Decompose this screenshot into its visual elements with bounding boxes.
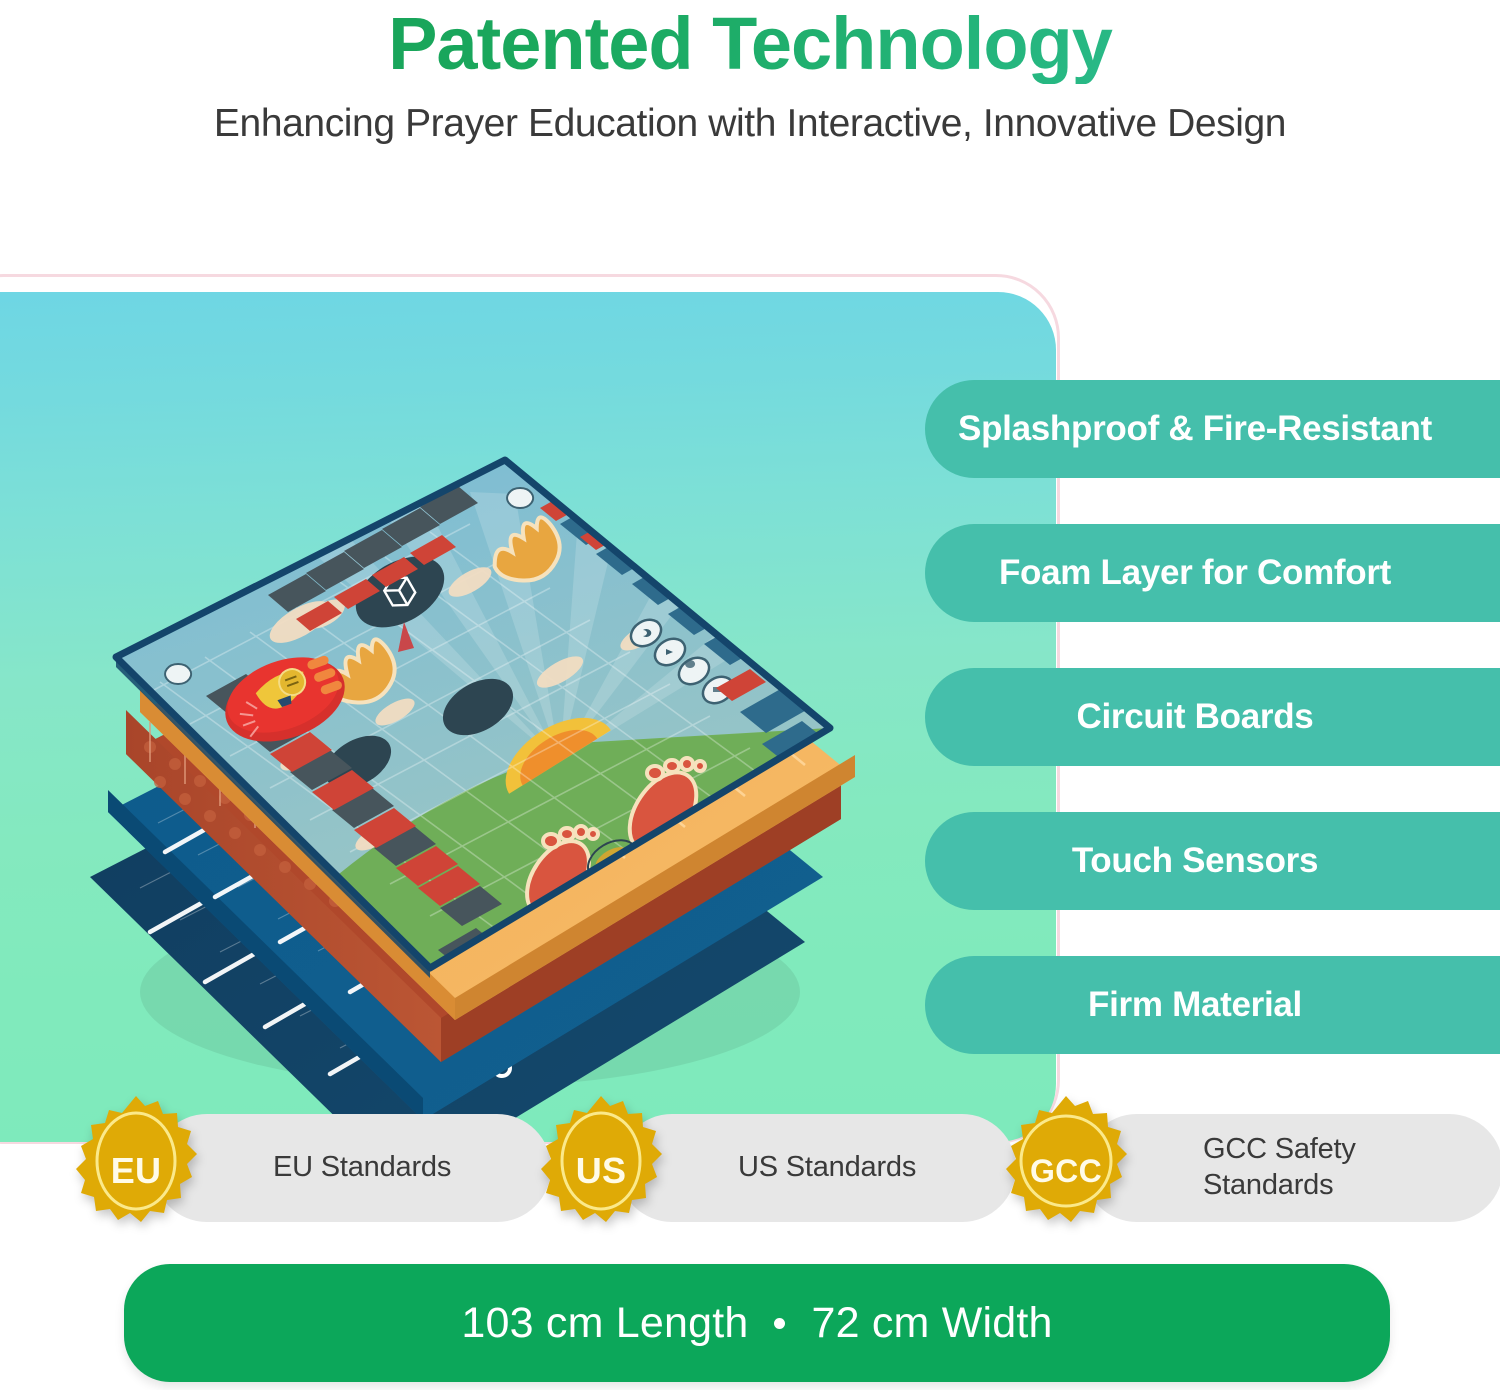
certification-badges: EU Standards EU US Standards US GCC Safe… (0, 1092, 1500, 1252)
rosette-code: EU (75, 1092, 197, 1250)
product-layer-illustration (0, 292, 1056, 1142)
feature-list: Splashproof & Fire-Resistant Foam Layer … (925, 380, 1500, 1100)
certification-pill: US Standards (618, 1114, 1016, 1222)
feature-pill-firm-material[interactable]: Firm Material (925, 956, 1500, 1054)
rosette-code: GCC (1005, 1092, 1127, 1250)
certification-label: EU Standards (273, 1150, 451, 1186)
feature-label: Splashproof & Fire-Resistant (958, 409, 1432, 449)
certification-pill: EU Standards (153, 1114, 551, 1222)
dimension-length: 103 cm Length (461, 1299, 748, 1348)
feature-label: Foam Layer for Comfort (999, 553, 1391, 593)
feature-pill-splashproof[interactable]: Splashproof & Fire-Resistant (925, 380, 1500, 478)
feature-pill-touch-sensors[interactable]: Touch Sensors (925, 812, 1500, 910)
feature-label: Circuit Boards (1077, 697, 1314, 737)
feature-label: Firm Material (1088, 985, 1302, 1025)
feature-pill-foam-layer[interactable]: Foam Layer for Comfort (925, 524, 1500, 622)
page-subtitle: Enhancing Prayer Education with Interact… (190, 98, 1310, 149)
dimension-width: 72 cm Width (811, 1299, 1052, 1348)
rosette-code: US (540, 1092, 662, 1250)
certification-pill: GCC Safety Standards (1083, 1114, 1500, 1222)
product-image-panel (0, 292, 1056, 1142)
bullet-separator-icon (774, 1318, 785, 1329)
dimensions-text: 103 cm Length 72 cm Width (461, 1299, 1052, 1348)
feature-label: Touch Sensors (1072, 841, 1318, 881)
certification-label: US Standards (738, 1150, 916, 1186)
page-title: Patented Technology (0, 4, 1500, 84)
certification-label: GCC Safety Standards (1203, 1132, 1469, 1204)
feature-pill-circuit-boards[interactable]: Circuit Boards (925, 668, 1500, 766)
dimensions-bar: 103 cm Length 72 cm Width (124, 1264, 1390, 1382)
page-header: Patented Technology Enhancing Prayer Edu… (0, 0, 1500, 149)
product-card: Splashproof & Fire-Resistant Foam Layer … (0, 274, 1500, 1390)
